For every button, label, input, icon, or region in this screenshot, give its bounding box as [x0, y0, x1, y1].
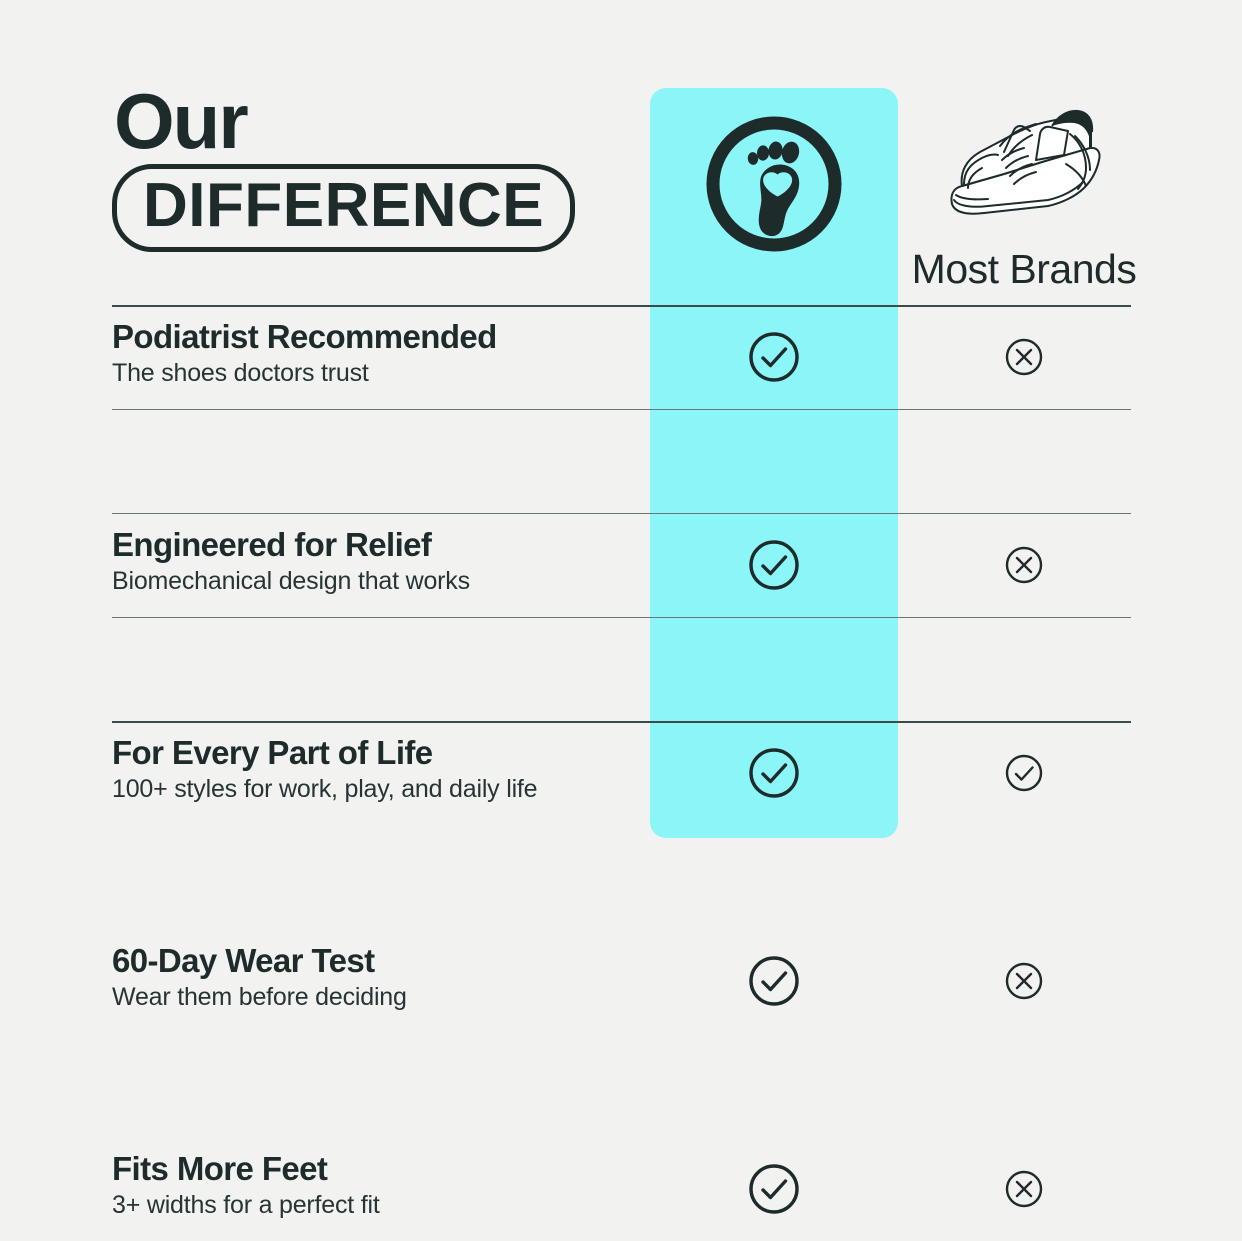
- page-title-line2-pill: DIFFERENCE: [112, 164, 575, 252]
- table-row: 60-Day Wear Test Wear them before decidi…: [0, 929, 1242, 1033]
- table-row: Fits More Feet 3+ widths for a perfect f…: [0, 1137, 1242, 1241]
- row-title: For Every Part of Life: [112, 735, 632, 771]
- cell-ours: [650, 513, 898, 617]
- column-header-most-brands: Most Brands: [898, 246, 1150, 293]
- check-circle-icon: [747, 954, 801, 1008]
- check-circle-icon: [747, 1162, 801, 1216]
- row-title: Engineered for Relief: [112, 527, 632, 563]
- row-label: Fits More Feet 3+ widths for a perfect f…: [112, 1151, 632, 1222]
- row-label: Engineered for Relief Biomechanical desi…: [112, 527, 632, 598]
- cell-theirs: [898, 513, 1150, 617]
- check-circle-icon: [747, 746, 801, 800]
- divider: [112, 513, 1131, 514]
- cross-circle-icon: [1004, 337, 1044, 377]
- row-label: For Every Part of Life 100+ styles for w…: [112, 735, 632, 806]
- comparison-header: Our DIFFERENCE: [0, 0, 1242, 305]
- cross-circle-icon: [1004, 545, 1044, 585]
- row-title: Fits More Feet: [112, 1151, 632, 1187]
- cell-ours: [650, 1137, 898, 1241]
- check-circle-icon: [1004, 753, 1044, 793]
- row-title: 60-Day Wear Test: [112, 943, 632, 979]
- row-label: Podiatrist Recommended The shoes doctors…: [112, 319, 632, 390]
- row-label: 60-Day Wear Test Wear them before decidi…: [112, 943, 632, 1014]
- table-row: For Every Part of Life 100+ styles for w…: [0, 721, 1242, 825]
- cross-circle-icon: [1004, 961, 1044, 1001]
- row-subtitle: 100+ styles for work, play, and daily li…: [112, 774, 632, 805]
- comparison-table: Podiatrist Recommended The shoes doctors…: [0, 305, 1242, 825]
- cell-theirs: [898, 1137, 1150, 1241]
- check-circle-icon: [747, 330, 801, 384]
- divider: [112, 409, 1131, 410]
- table-row: Engineered for Relief Biomechanical desi…: [0, 513, 1242, 617]
- cell-theirs: [898, 305, 1150, 409]
- row-title: Podiatrist Recommended: [112, 319, 632, 355]
- cross-circle-icon: [1004, 1169, 1044, 1209]
- table-row: Podiatrist Recommended The shoes doctors…: [0, 305, 1242, 409]
- divider: [112, 617, 1131, 618]
- cell-ours: [650, 721, 898, 825]
- sneaker-illustration-icon: [944, 100, 1104, 230]
- footprint-heart-circle-icon: [702, 112, 846, 256]
- divider: [112, 721, 1131, 723]
- check-circle-icon: [747, 538, 801, 592]
- row-subtitle: Biomechanical design that works: [112, 566, 632, 597]
- row-subtitle: Wear them before deciding: [112, 982, 632, 1013]
- cell-ours: [650, 305, 898, 409]
- row-subtitle: 3+ widths for a perfect fit: [112, 1190, 632, 1221]
- cell-theirs: [898, 721, 1150, 825]
- row-subtitle: The shoes doctors trust: [112, 358, 632, 389]
- page-title-line1: Our: [114, 86, 632, 158]
- page-title: Our DIFFERENCE: [112, 86, 632, 252]
- cell-ours: [650, 929, 898, 1033]
- cell-theirs: [898, 929, 1150, 1033]
- comparison-page: Our DIFFERENCE: [0, 0, 1242, 878]
